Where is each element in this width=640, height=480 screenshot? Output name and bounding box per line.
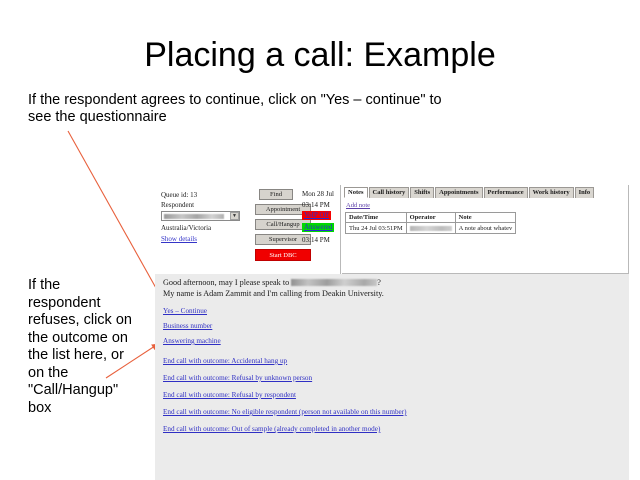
tab-appointments[interactable]: Appointments xyxy=(435,187,482,198)
status-date: Mon 28 Jul xyxy=(302,190,334,198)
link-business-number[interactable]: Business number xyxy=(163,322,212,330)
chevron-down-icon[interactable]: ▼ xyxy=(230,212,239,220)
status-time-top: 03:14 PM xyxy=(302,201,330,209)
respondent-select[interactable]: ▼ xyxy=(161,211,240,221)
link-outcome-no-eligible-respondent[interactable]: End call with outcome: No eligible respo… xyxy=(163,408,407,416)
tab-shifts[interactable]: Shifts xyxy=(410,187,434,198)
respondent-value-redacted xyxy=(164,214,224,219)
find-button[interactable]: Find xyxy=(259,189,293,200)
tab-info[interactable]: Info xyxy=(575,187,595,198)
script-line-1: Good afternoon, may I please speak to ? xyxy=(163,278,381,287)
link-outcome-refusal-unknown-person[interactable]: End call with outcome: Refusal by unknow… xyxy=(163,374,312,382)
page-title: Placing a call: Example xyxy=(0,36,640,75)
cell-note: A note about whatev xyxy=(455,223,516,234)
call-control-panel: Queue id: 13 Respondent ▼ Australia/Vict… xyxy=(155,185,341,274)
show-details-link[interactable]: Show details xyxy=(161,235,197,243)
timezone-label: Australia/Victoria xyxy=(161,224,211,232)
annotation-left-text: If the respondent refuses, click on the … xyxy=(28,277,136,417)
app-top-region: Queue id: 13 Respondent ▼ Australia/Vict… xyxy=(155,185,629,274)
table-header-row: Date/Time Operator Note xyxy=(346,213,516,223)
table-row[interactable]: Thu 24 Jul 03:51PM A note about whatev xyxy=(346,223,516,234)
column-header-operator: Operator xyxy=(406,213,455,223)
queue-id-label: Queue id: 13 xyxy=(161,191,197,199)
tab-performance[interactable]: Performance xyxy=(484,187,528,198)
link-yes-continue[interactable]: Yes – Continue xyxy=(163,307,207,315)
respondent-label: Respondent xyxy=(161,201,194,209)
tab-strip: Notes Call history Shifts Appointments P… xyxy=(344,187,595,198)
annotation-top-text: If the respondent agrees to continue, cl… xyxy=(28,92,458,126)
notes-table: Date/Time Operator Note Thu 24 Jul 03:51… xyxy=(345,212,516,234)
tab-notes[interactable]: Notes xyxy=(344,187,368,198)
script-line-1-suffix: ? xyxy=(377,278,381,287)
operator-redacted xyxy=(410,226,452,231)
answered-status-badge[interactable]: Answered xyxy=(302,223,334,232)
link-outcome-refusal-respondent[interactable]: End call with outcome: Refusal by respon… xyxy=(163,391,296,399)
link-answering-machine[interactable]: Answering machine xyxy=(163,337,221,345)
column-header-datetime: Date/Time xyxy=(346,213,407,223)
column-header-note: Note xyxy=(455,213,516,223)
script-and-outcomes-area: Good afternoon, may I please speak to ? … xyxy=(155,274,629,480)
status-time-bottom: 03:14 PM xyxy=(302,236,330,244)
script-line-2: My name is Adam Zammit and I'm calling f… xyxy=(163,289,384,298)
arrow-yes-continue xyxy=(68,131,161,297)
voip-status-badge[interactable]: VoIP Off xyxy=(302,211,331,220)
script-line-1-prefix: Good afternoon, may I please speak to xyxy=(163,278,291,287)
add-note-link[interactable]: Add note xyxy=(346,202,370,209)
respondent-name-redacted xyxy=(291,279,377,286)
tab-call-history[interactable]: Call history xyxy=(369,187,410,198)
start-dbc-button[interactable]: Start DBC xyxy=(255,249,311,261)
tab-work-history[interactable]: Work history xyxy=(529,187,574,198)
link-outcome-out-of-sample[interactable]: End call with outcome: Out of sample (al… xyxy=(163,425,380,433)
cell-operator xyxy=(406,223,455,234)
cell-datetime: Thu 24 Jul 03:51PM xyxy=(346,223,407,234)
app-screenshot: Queue id: 13 Respondent ▼ Australia/Vict… xyxy=(155,185,629,480)
link-outcome-accidental-hangup[interactable]: End call with outcome: Accidental hang u… xyxy=(163,357,287,365)
notes-panel: Notes Call history Shifts Appointments P… xyxy=(342,185,629,274)
